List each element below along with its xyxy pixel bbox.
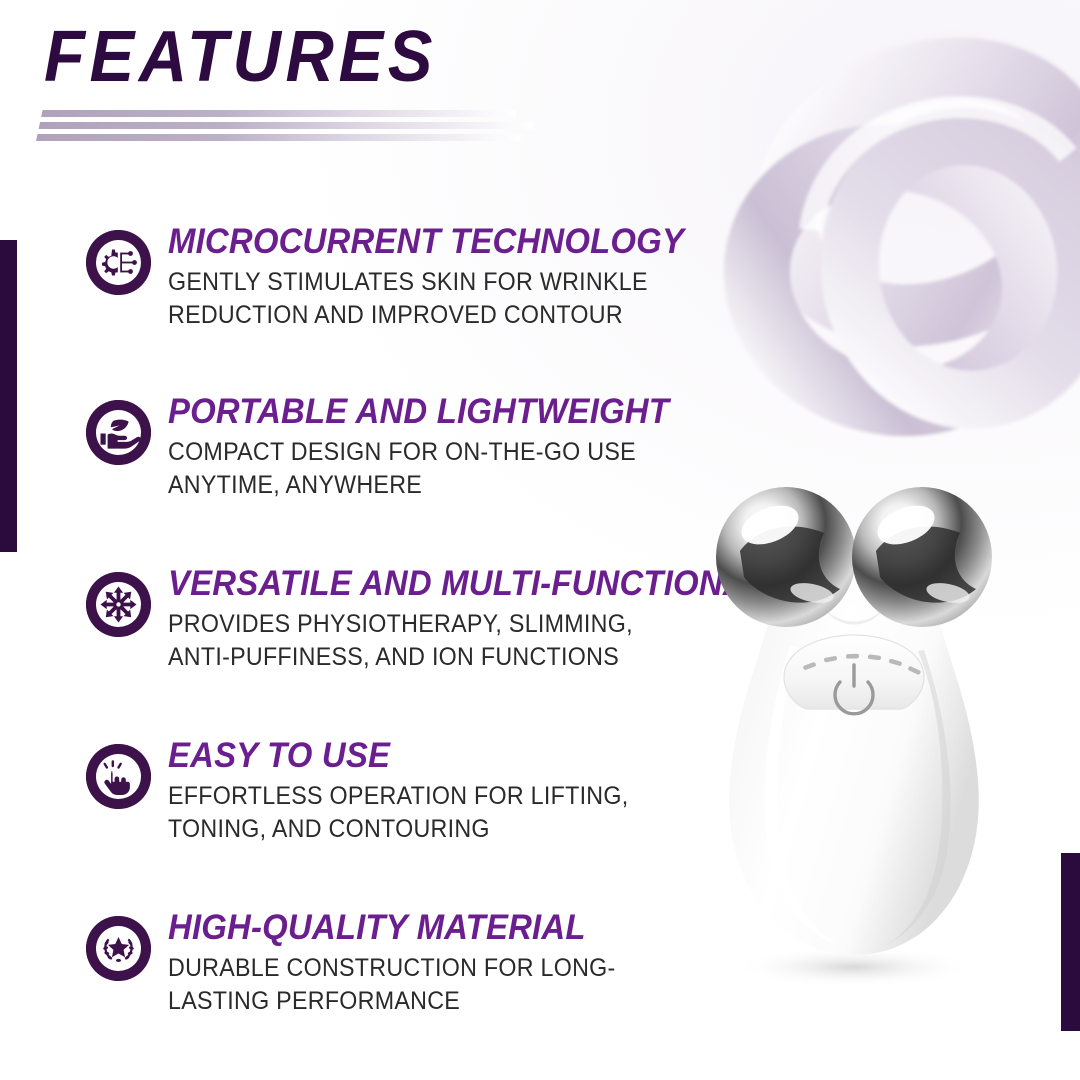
- feature-list: MICROCURRENT TECHNOLOGY GENTLY STIMULATE…: [86, 222, 726, 1056]
- left-accent-bar: [0, 240, 17, 552]
- feature-title: HIGH-QUALITY MATERIAL: [168, 910, 693, 945]
- feature-description: GENTLY STIMULATES SKIN FOR WRINKLE REDUC…: [168, 266, 687, 331]
- feature-description: EFFORTLESS OPERATION FOR LIFTING, TONING…: [168, 780, 687, 845]
- feature-item: PORTABLE AND LIGHTWEIGHT COMPACT DESIGN …: [86, 394, 726, 564]
- feature-description: DURABLE CONSTRUCTION FOR LONG-LASTING PE…: [168, 952, 687, 1017]
- abstract-ribbon-graphic: [700, 0, 1080, 450]
- rule-line-1: [41, 110, 516, 117]
- feature-item: VERSATILE AND MULTI-FUNCTIONAL PROVIDES …: [86, 566, 726, 736]
- feature-title: PORTABLE AND LIGHTWEIGHT: [168, 394, 693, 429]
- hand-leaf-icon: [86, 400, 151, 465]
- feature-title: MICROCURRENT TECHNOLOGY: [168, 224, 693, 259]
- page-title: FEATURES: [44, 22, 621, 93]
- title-underline-rules: [35, 110, 562, 144]
- star-laurel-icon: [86, 916, 151, 981]
- microcurrent-facial-device: [672, 455, 1032, 995]
- feature-item: MICROCURRENT TECHNOLOGY GENTLY STIMULATE…: [86, 224, 726, 392]
- feature-description: PROVIDES PHYSIOTHERAPY, SLIMMING, ANTI-P…: [168, 608, 687, 673]
- feature-title: EASY TO USE: [168, 738, 693, 773]
- features-poster: FEATURES: [0, 0, 1080, 1080]
- feature-item: EASY TO USE EFFORTLESS OPERATION FOR LIF…: [86, 738, 726, 908]
- rule-line-2: [39, 122, 534, 129]
- feature-title: VERSATILE AND MULTI-FUNCTIONAL: [168, 566, 693, 601]
- poster-header: FEATURES: [44, 22, 664, 93]
- rule-line-3: [36, 134, 521, 141]
- feature-description: COMPACT DESIGN FOR ON-THE-GO USE ANYTIME…: [168, 436, 687, 501]
- tap-hand-icon: [86, 744, 151, 809]
- multi-arrow-burst-icon: [86, 572, 151, 637]
- feature-item: HIGH-QUALITY MATERIAL DURABLE CONSTRUCTI…: [86, 910, 726, 1056]
- gear-circuit-icon: [86, 230, 151, 295]
- right-accent-bar: [1061, 853, 1080, 1031]
